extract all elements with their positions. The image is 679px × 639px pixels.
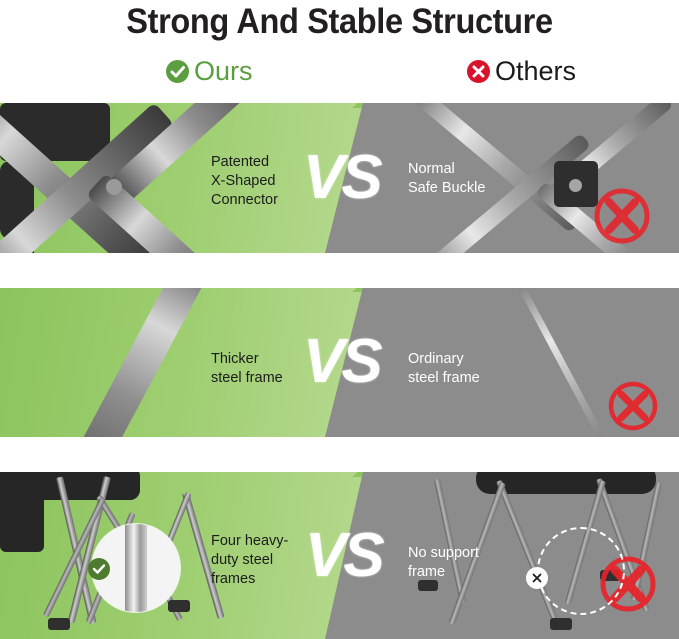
row-divider-1 — [0, 253, 679, 288]
row-divider-2 — [0, 437, 679, 472]
others-feature-label: Normal Safe Buckle — [408, 160, 485, 198]
comparison-legend: Ours Others — [0, 56, 679, 92]
comparison-row-frame-thickness: VS Thicker steel frame Ordinary steel fr… — [0, 287, 679, 437]
others-feature-label: No support frame — [408, 544, 479, 582]
infographic-page: Strong And Stable Structure Ours Others — [0, 0, 679, 639]
red-x-mark — [591, 185, 653, 247]
legend-others-label: Others — [495, 58, 576, 85]
comparison-row-connector: VS Patented X-Shaped Connector Normal Sa… — [0, 103, 679, 253]
missing-support-highlight — [537, 527, 625, 615]
ours-feature-label: Thicker steel frame — [211, 350, 283, 388]
red-x-mark — [605, 378, 661, 434]
vs-label: VS — [303, 331, 380, 393]
x-circle-icon — [467, 60, 490, 83]
check-badge-icon — [88, 558, 110, 580]
check-circle-icon — [166, 60, 189, 83]
legend-ours: Ours — [166, 58, 253, 85]
ours-feature-label: Four heavy- duty steel frames — [211, 532, 288, 589]
page-title: Strong And Stable Structure — [24, 0, 655, 44]
steel-tube-closeup — [125, 524, 147, 612]
others-feature-label: Ordinary steel frame — [408, 350, 480, 388]
legend-others: Others — [467, 58, 576, 85]
x-badge-icon — [526, 567, 548, 589]
legend-ours-label: Ours — [194, 58, 253, 85]
ours-feature-label: Patented X-Shaped Connector — [211, 153, 278, 210]
vs-label: VS — [305, 525, 382, 587]
vs-label: VS — [303, 147, 380, 209]
